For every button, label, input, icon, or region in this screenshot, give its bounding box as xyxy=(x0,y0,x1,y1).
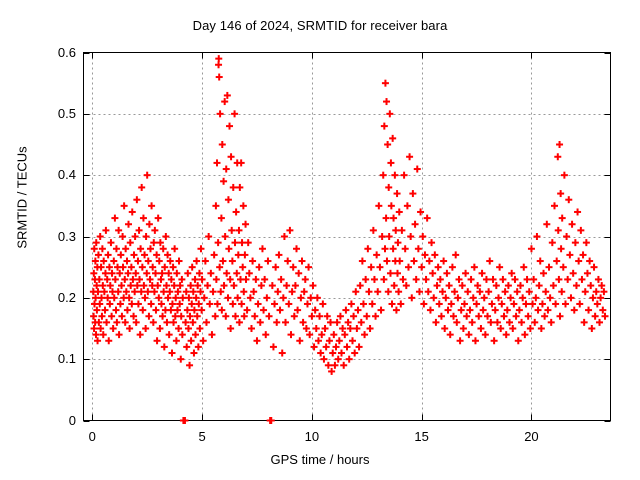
x-tick-label: 0 xyxy=(62,430,122,443)
y-tick-label: 0 xyxy=(10,414,76,427)
data-points xyxy=(90,55,609,424)
x-tick-label: 5 xyxy=(172,430,232,443)
y-tick-label: 0.3 xyxy=(10,230,76,243)
scatter-plot-figure: Day 146 of 2024, SRMTID for receiver bar… xyxy=(0,0,640,480)
y-axis-label: SRMTID / TECUs xyxy=(15,98,30,298)
page-title: Day 146 of 2024, SRMTID for receiver bar… xyxy=(0,18,640,33)
x-axis-label: GPS time / hours xyxy=(0,452,640,467)
y-tick-label: 0.4 xyxy=(10,168,76,181)
y-tick-label: 0.1 xyxy=(10,352,76,365)
y-tick-label: 0.6 xyxy=(10,46,76,59)
y-tick-label: 0.5 xyxy=(10,107,76,120)
x-tick-label: 15 xyxy=(392,430,452,443)
x-tick-label: 10 xyxy=(282,430,342,443)
x-tick-label: 20 xyxy=(501,430,561,443)
y-tick-label: 0.2 xyxy=(10,291,76,304)
plot-canvas xyxy=(0,0,640,480)
